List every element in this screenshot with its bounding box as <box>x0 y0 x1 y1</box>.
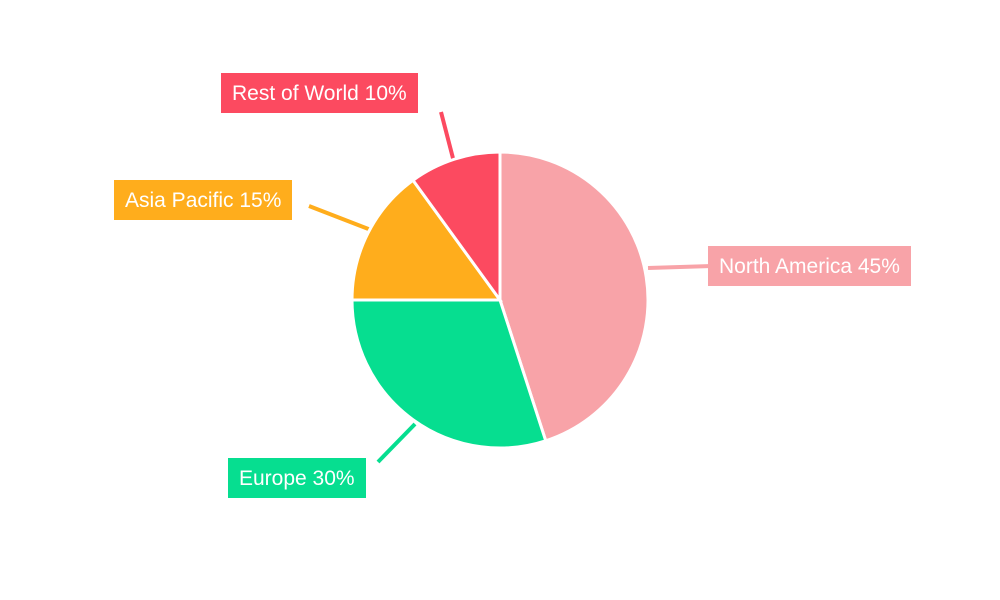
pie-label-north-america-text: North America 45% <box>719 256 900 277</box>
leader-line-asia-pacific <box>309 206 371 230</box>
leader-line-north-america <box>648 266 712 268</box>
pie-label-europe: Europe 30% <box>228 458 366 498</box>
pie-label-rest-of-world: Rest of World 10% <box>221 73 418 113</box>
pie-chart-canvas <box>0 0 1000 600</box>
leader-line-rest-of-world <box>441 112 455 166</box>
pie-label-asia-pacific-text: Asia Pacific 15% <box>125 190 281 211</box>
pie-chart-figure: North America 45% Europe 30% Asia Pacifi… <box>0 0 1000 600</box>
leader-line-europe <box>378 424 415 462</box>
pie-label-rest-of-world-text: Rest of World 10% <box>232 83 407 104</box>
pie-slices <box>352 152 648 448</box>
pie-label-north-america: North America 45% <box>708 246 911 286</box>
pie-label-europe-text: Europe 30% <box>239 468 355 489</box>
pie-label-asia-pacific: Asia Pacific 15% <box>114 180 292 220</box>
